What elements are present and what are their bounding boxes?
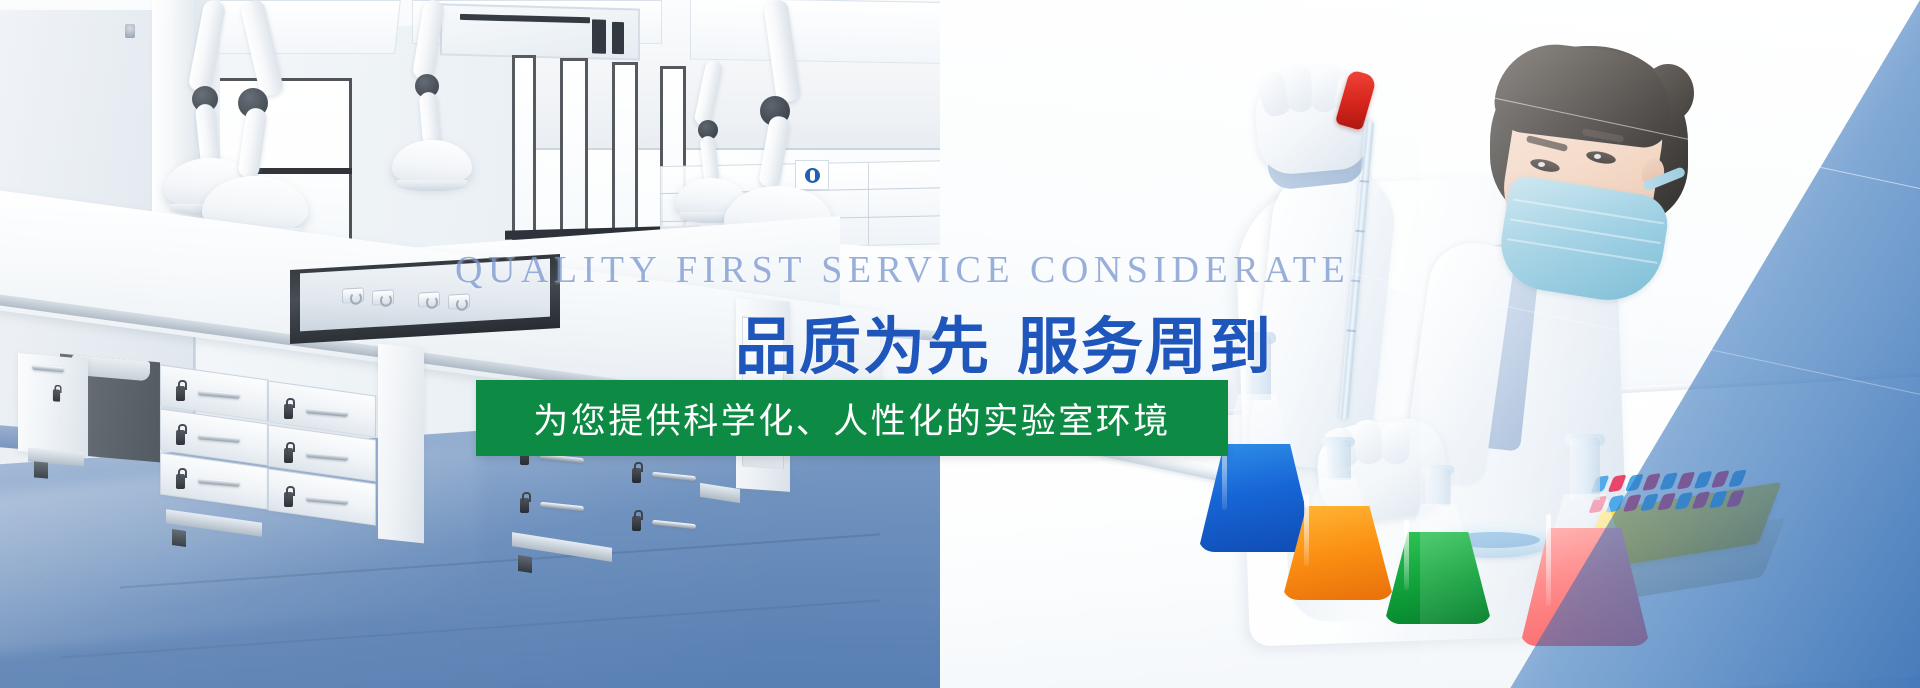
cabinet-lock-icon (176, 474, 185, 489)
cabinet-lock-icon (53, 389, 60, 402)
cabinet-lock-icon (284, 404, 293, 419)
lab-cabinet-tall (378, 344, 424, 544)
cabinet-lock-icon (284, 492, 293, 507)
drawer-bank-left (160, 372, 395, 512)
bench-power-socket-icon (448, 293, 470, 309)
cabinet-lock-icon (520, 498, 529, 513)
cabinet-lock-icon (176, 430, 185, 445)
orange-flask (1282, 440, 1394, 600)
laboratory-hero-banner: QUALITY FIRST SERVICE CONSIDERATE 品质为先服务… (0, 0, 1920, 688)
headline-part-2: 服务周到 (1017, 310, 1273, 383)
window (512, 55, 536, 240)
ceiling-panel (205, 0, 401, 54)
cabinet-lock-icon (284, 448, 293, 463)
sprinkler-head-icon (125, 24, 135, 38)
subtitle-bar: 为您提供科学化、人性化的实验室环境 (476, 380, 1228, 456)
subtitle-text: 为您提供科学化、人性化的实验室环境 (533, 393, 1171, 444)
window (612, 62, 638, 240)
wall-logo-badge (795, 160, 829, 190)
bench-power-socket-icon (342, 287, 364, 303)
cabinet-foot (34, 461, 48, 478)
cabinet-lock-icon (632, 516, 641, 531)
ceiling-panel (690, 0, 980, 65)
bench-power-socket-icon (372, 289, 394, 305)
english-tagline: QUALITY FIRST SERVICE CONSIDERATE (455, 248, 1350, 292)
cabinet-lock-icon (632, 468, 641, 483)
cabinet-lock-icon (176, 386, 185, 401)
headline-part-1: 品质为先 (735, 310, 991, 383)
window (560, 58, 588, 240)
bench-power-socket-icon (418, 291, 440, 307)
cabinet-foot (172, 529, 186, 547)
cabinet-foot (518, 555, 532, 573)
ceiling-ac-vent-icon (440, 3, 640, 60)
headline: 品质为先服务周到 (735, 296, 1273, 386)
glove-finger (1284, 63, 1315, 113)
